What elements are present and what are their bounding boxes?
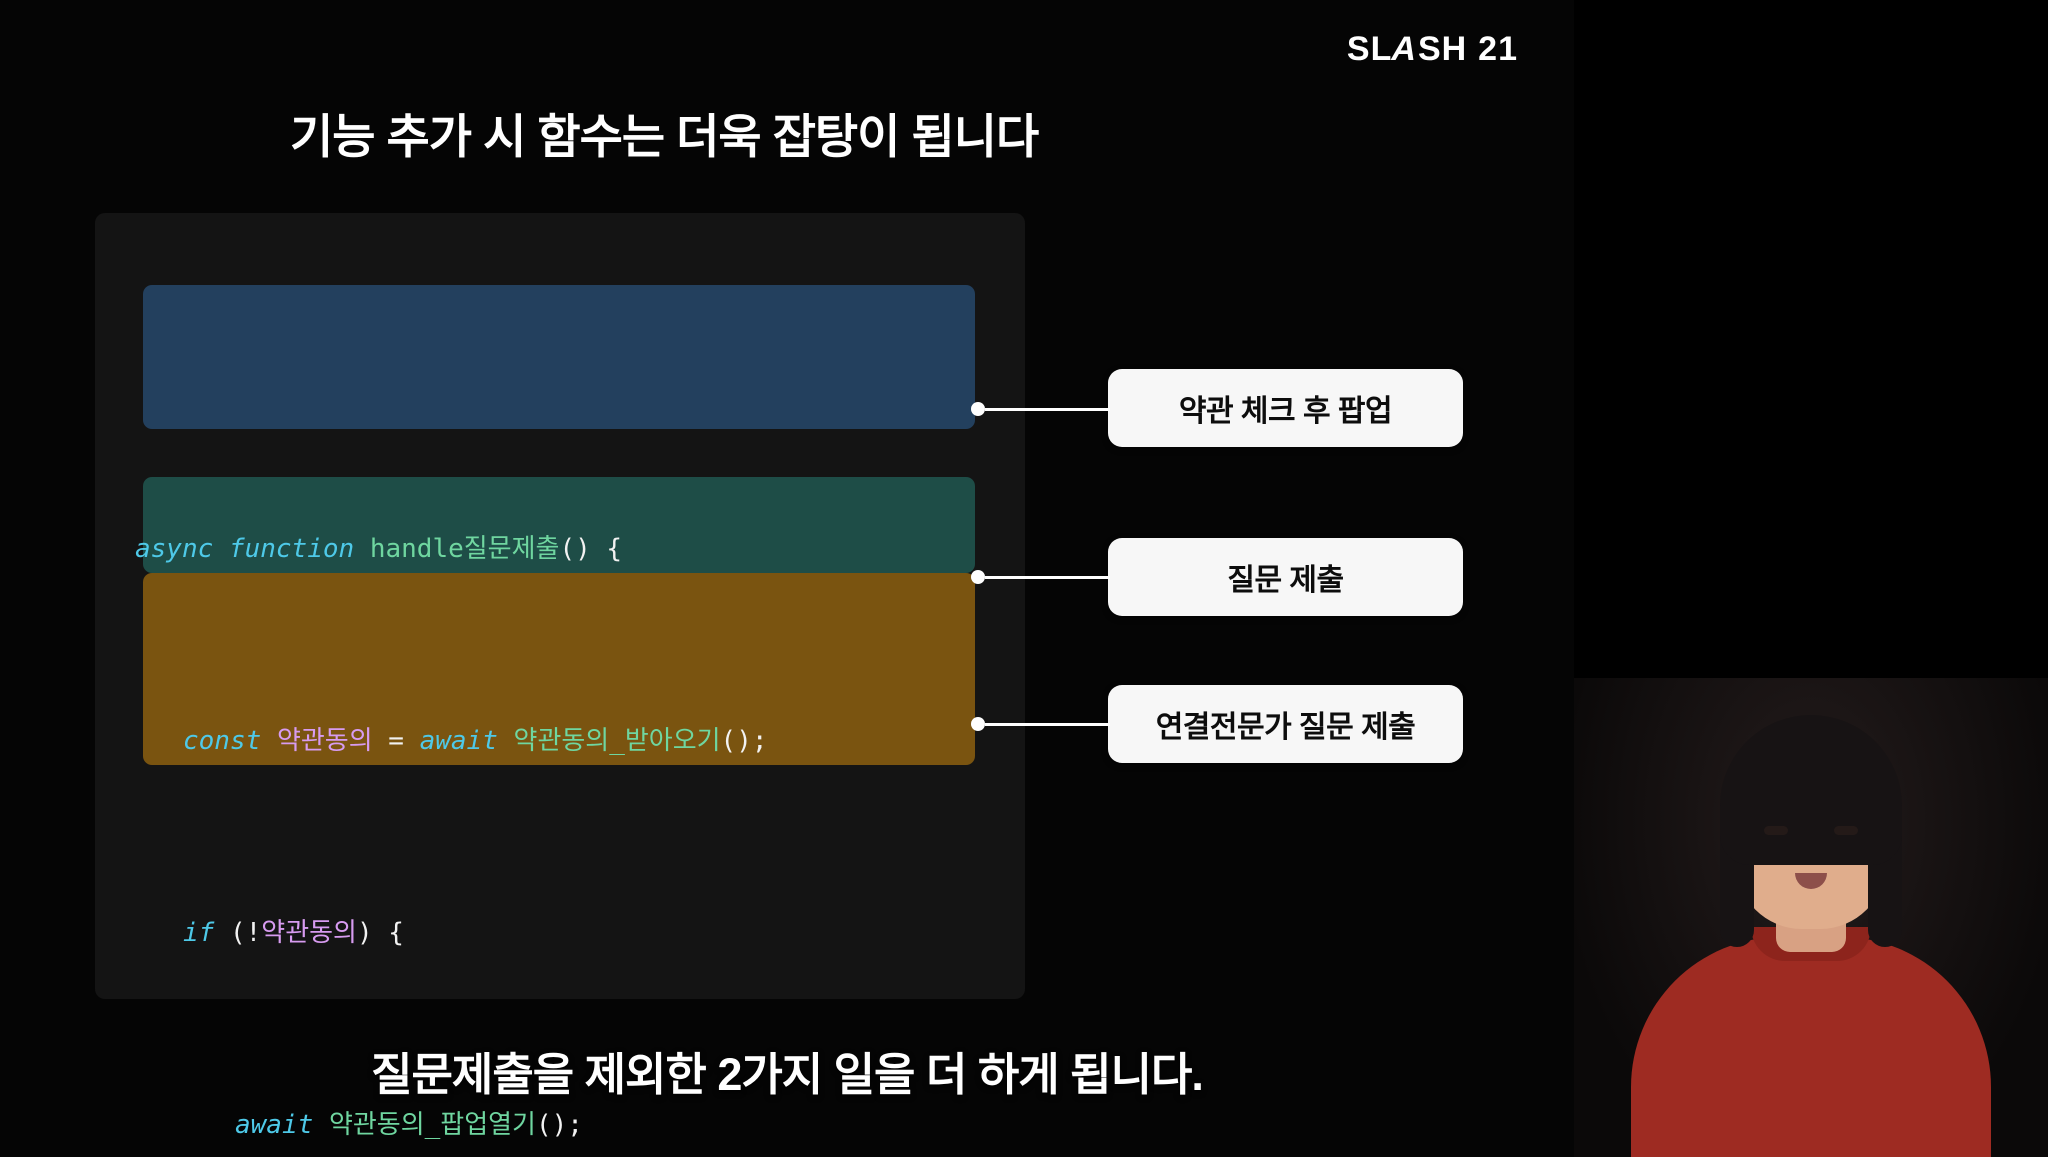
presenter-eye-left [1764,826,1788,835]
callout-label: 질문 제출 [1227,555,1343,599]
connector-dot-submit [971,570,985,584]
token-variable: 약관동의 [277,726,373,756]
token-await: await [420,726,498,756]
token-equals: = [388,726,404,756]
logo-number: 21 [1478,30,1518,69]
code-line-4: await 약관동의_팝업열기(); [95,1101,1025,1149]
token-punct: (); [536,1110,583,1140]
token-fn-name: handle질문제출 [370,534,560,564]
slide-title: 기능 추가 시 함수는 더욱 잡탕이 됩니다 [290,98,1038,167]
token-function: function [229,534,354,564]
callout-label: 연결전문가 질문 제출 [1156,702,1416,746]
code-panel: async function handle질문제출() { const 약관동의… [95,213,1025,999]
code-line-2: const 약관동의 = await 약관동의_받아오기(); [95,717,1025,765]
logo-text-sl: SL [1347,30,1392,69]
token-async: async [135,534,213,564]
token-const: const [183,726,261,756]
code-line-1: async function handle질문제출() { [95,525,1025,573]
token-variable: 약관동의 [261,918,357,948]
presenter-eye-right [1834,826,1858,835]
token-await: await [235,1110,313,1140]
callout-label: 약관 체크 후 팝업 [1179,386,1392,430]
presentation-slide: SLASH21 기능 추가 시 함수는 더욱 잡탕이 됩니다 async fun… [0,0,1574,1157]
token-punct: ) { [357,918,404,948]
callout-question-submit[interactable]: 질문 제출 [1108,538,1463,616]
connector-dot-terms [971,402,985,416]
presenter-torso [1631,937,1991,1157]
presenter-pane [1574,0,2048,1157]
connector-line-expert [985,723,1110,726]
slash21-logo: SLASH21 [1347,30,1518,69]
connector-dot-expert [971,717,985,731]
token-call: 약관동의_팝업열기 [329,1110,536,1140]
callout-terms-popup[interactable]: 약관 체크 후 팝업 [1108,369,1463,447]
connector-line-submit [985,576,1110,579]
callout-expert-submit[interactable]: 연결전문가 질문 제출 [1108,685,1463,763]
token-if: if [183,918,214,948]
connector-line-terms [985,408,1110,411]
code-block: async function handle질문제출() { const 약관동의… [95,213,1025,1157]
token-punct: () { [559,534,622,564]
code-line-3: if (!약관동의) { [95,909,1025,957]
token-call: 약관동의_받아오기 [514,726,721,756]
token-punct: (! [230,918,261,948]
logo-text-sh: SH [1418,30,1467,69]
presenter-video [1574,678,2048,1157]
token-punct: (); [721,726,768,756]
presenter-hair [1720,715,1902,865]
screen: SLASH21 기능 추가 시 함수는 더욱 잡탕이 됩니다 async fun… [0,0,2048,1157]
